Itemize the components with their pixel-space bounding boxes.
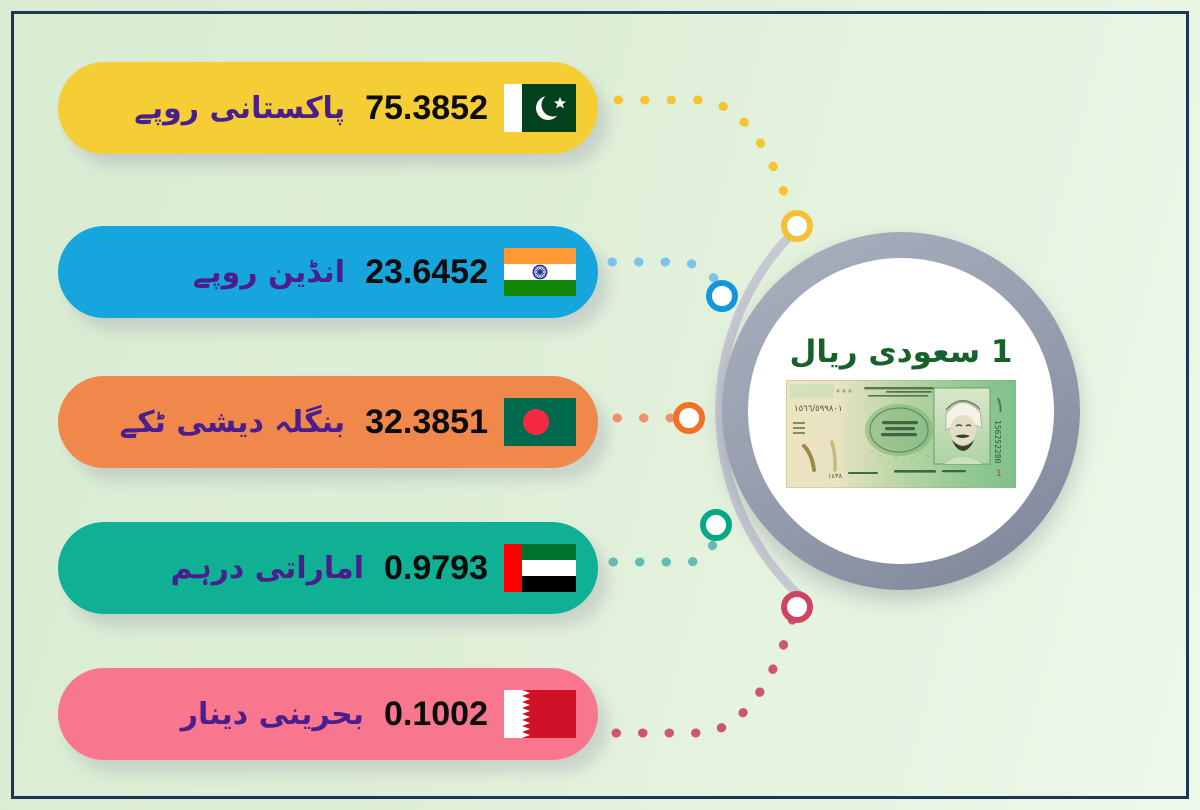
rate-value-india: 23.6452: [365, 253, 488, 292]
base-currency-card: 1 سعودی ریال: [748, 258, 1054, 564]
india-flag-icon: [504, 248, 576, 296]
marker-ring-pakistan[interactable]: [784, 213, 810, 239]
marker-ring-bahrain[interactable]: [784, 594, 810, 620]
leader-line-pakistan: [618, 100, 795, 226]
rate-value-uae: 0.9793: [384, 549, 488, 588]
rate-pill-bangladesh[interactable]: بنگلہ دیشی ٹکے 32.3851: [58, 376, 598, 468]
svg-text:١٥٦٦/٥٩٩٨٠١: ١٥٦٦/٥٩٩٨٠١: [794, 404, 843, 414]
svg-text:١٤٣٨: ١٤٣٨: [828, 472, 842, 480]
rate-label-india: انڈین روپے: [193, 255, 345, 290]
rate-pill-india[interactable]: انڈین روپے 23.6452: [58, 226, 598, 318]
marker-ring-bangladesh[interactable]: [676, 405, 702, 431]
infographic-canvas: پاکستانی روپے 75.3852 انڈین روپے 23.6452: [0, 0, 1200, 810]
bahrain-flag-icon: [504, 690, 576, 738]
rate-pill-bahrain[interactable]: بحرینی دینار 0.1002: [58, 668, 598, 760]
leader-line-india: [612, 262, 722, 294]
rate-pill-uae[interactable]: اماراتی درہم 0.9793: [58, 522, 598, 614]
svg-text:156252280: 156252280: [993, 420, 1002, 464]
marker-ring-india[interactable]: [709, 283, 735, 309]
leader-line-bahrain: [616, 608, 796, 733]
pakistan-flag-icon: [504, 84, 576, 132]
saudi-riyal-banknote-image: ١٥٦٦/٥٩٩٨٠١: [786, 380, 1016, 488]
bangladesh-flag-icon: [504, 398, 576, 446]
rate-label-bangladesh: بنگلہ دیشی ٹکے: [120, 405, 346, 440]
rate-value-pakistan: 75.3852: [365, 89, 488, 128]
rate-label-bahrain: بحرینی دینار: [181, 697, 364, 732]
uae-flag-icon: [504, 544, 576, 592]
svg-text:١: ١: [994, 393, 1006, 418]
rate-label-pakistan: پاکستانی روپے: [134, 91, 345, 126]
svg-text:1: 1: [996, 469, 1001, 479]
base-currency-label: 1 سعودی ریال: [790, 334, 1013, 370]
rate-pill-pakistan[interactable]: پاکستانی روپے 75.3852: [58, 62, 598, 154]
rate-value-bahrain: 0.1002: [384, 695, 488, 734]
rate-label-uae: اماراتی درہم: [170, 551, 364, 586]
marker-ring-uae[interactable]: [703, 512, 729, 538]
rate-value-bangladesh: 32.3851: [365, 403, 488, 442]
base-currency-hub: 1 سعودی ریال: [722, 232, 1080, 590]
